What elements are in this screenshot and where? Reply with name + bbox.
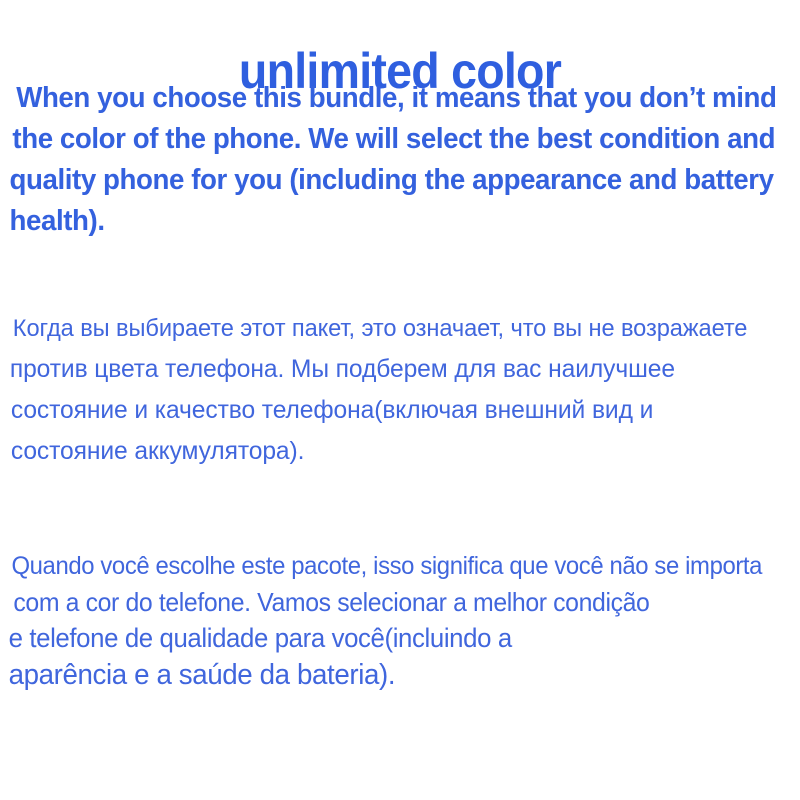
paragraph-russian-line-4: состояние аккумулятора). [0,431,788,472]
paragraph-russian: Когда вы выбираете этот пакет, это означ… [0,308,800,472]
paragraph-russian-line-2: против цвета телефона. Мы подберем для в… [0,349,788,390]
paragraph-english-line-4: health). [0,201,764,242]
paragraph-portuguese-line-2: com a cor do telefone. Vamos selecionar … [0,584,764,620]
paragraph-english-line-1: When you choose this bundle, it means th… [0,78,764,119]
paragraph-russian-line-1: Когда вы выбираете этот пакет, это означ… [0,308,788,349]
paragraph-english-line-3: quality phone for you (including the app… [0,160,764,201]
paragraph-portuguese-line-3: e telefone de qualidade para você(inclui… [0,620,764,656]
paragraph-portuguese-line-4: aparência e a saúde da bateria). [0,656,764,694]
paragraph-russian-line-3: состояние и качество телефона(включая вн… [0,390,788,431]
paragraph-english-line-2: the color of the phone. We will select t… [0,119,764,160]
paragraph-english: When you choose this bundle, it means th… [0,78,800,242]
paragraph-portuguese: Quando você escolhe este pacote, isso si… [0,548,800,694]
paragraph-portuguese-line-1: Quando você escolhe este pacote, isso si… [0,548,764,584]
product-description-banner: unlimited color When you choose this bun… [0,0,800,800]
